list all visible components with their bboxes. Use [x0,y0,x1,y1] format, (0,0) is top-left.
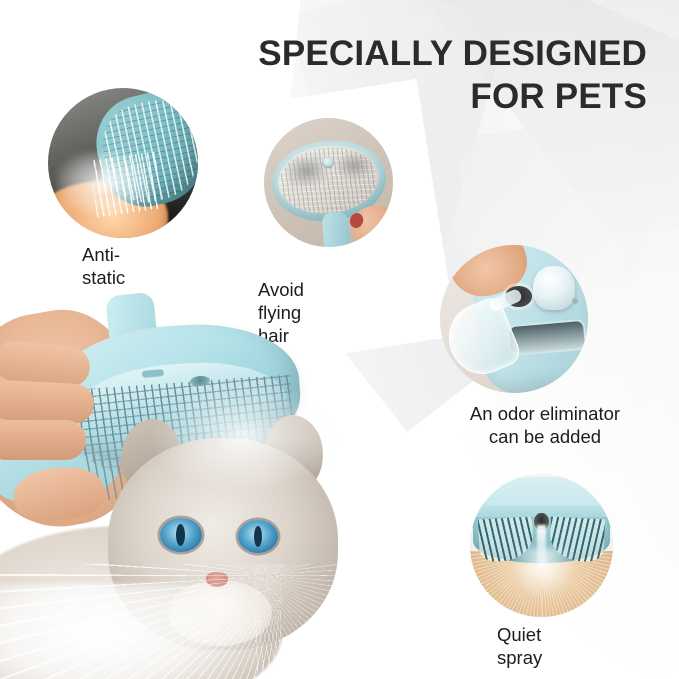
cat-chest-fluff [0,584,262,679]
feature-caption-anti-static: Anti-static [82,244,125,290]
hero-image [0,286,440,679]
feature-image-avoid-flying-hair [264,118,393,247]
feature-image-quiet-spray [470,474,613,617]
page-title: SPECIALLY DESIGNED FOR PETS [217,32,647,118]
hair-clump [335,152,374,180]
steam-mist [150,382,340,492]
spray-mist [513,548,573,597]
feature-caption-quiet-spray: Quiet spray [497,624,542,670]
steam-mist [57,151,150,214]
feature-image-odor-eliminator [440,245,588,393]
brush-handle [322,211,350,247]
feature-caption-odor-eliminator: An odor eliminator can be added [425,403,665,449]
feature-image-anti-static [48,88,198,238]
title-line-2: FOR PETS [217,75,647,118]
product-feature-poster: SPECIALLY DESIGNED FOR PETS Anti-static [0,0,679,679]
indicator-dot [572,298,578,304]
cat-pupil-right [254,526,262,547]
cat-whiskers-right [254,564,444,674]
device-knob [533,266,574,310]
release-button [322,157,334,169]
cat-pupil-left [176,524,185,546]
title-line-1: SPECIALLY DESIGNED [258,34,647,73]
